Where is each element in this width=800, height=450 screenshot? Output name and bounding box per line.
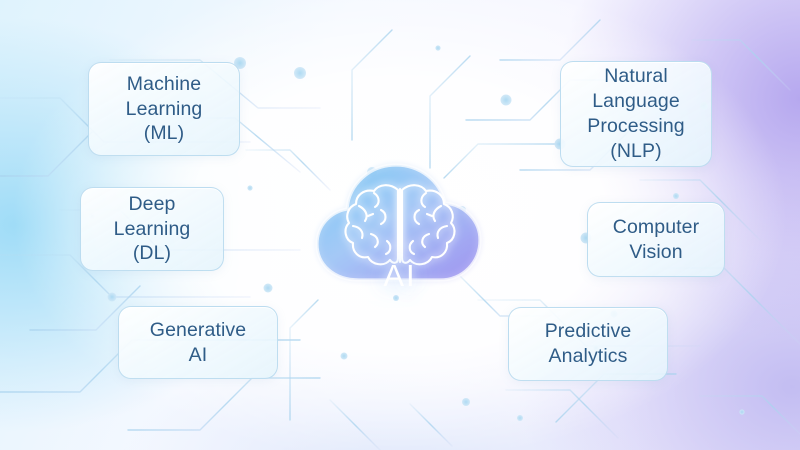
concept-card-machine-learning[interactable]: Machine Learning (ML) [88,62,240,156]
concept-card-predictive-analytics[interactable]: Predictive Analytics [508,307,668,381]
concept-card-deep-learning[interactable]: Deep Learning (DL) [80,187,224,271]
concept-card-label: Generative AI [150,318,246,368]
concept-card-label: Machine Learning (ML) [126,72,203,147]
concept-card-generative-ai[interactable]: Generative AI [118,306,278,379]
concept-card-natural-language-processing[interactable]: Natural Language Processing (NLP) [560,61,712,167]
brain-in-cloud-icon [307,152,493,302]
concept-card-label: Natural Language Processing (NLP) [587,64,684,164]
concept-card-label: Computer Vision [613,215,699,265]
ai-concept-diagram: AI Machine Learning (ML) Deep Learning (… [0,0,800,450]
concept-card-computer-vision[interactable]: Computer Vision [587,202,725,277]
concept-card-label: Deep Learning (DL) [114,192,191,267]
concept-card-label: Predictive Analytics [545,319,632,369]
